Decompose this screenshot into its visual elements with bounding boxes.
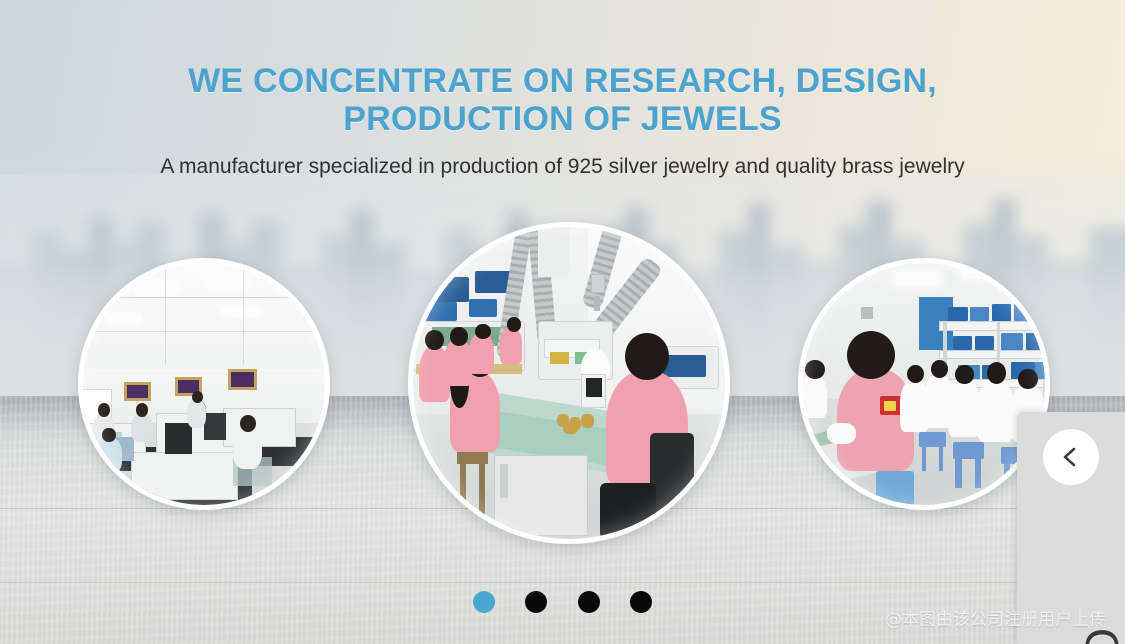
carousel-dot-4[interactable] [630,591,652,613]
photo-circle-office[interactable] [78,258,330,510]
ground-seam [0,582,1125,583]
carousel-dot-1[interactable] [473,591,495,613]
carousel-dot-2[interactable] [525,591,547,613]
chat-collapse-button[interactable] [1043,429,1099,485]
photo-circle-assembly[interactable] [798,258,1050,510]
headline-line-1: WE CONCENTRATE ON RESEARCH, DESIGN, [188,62,937,100]
carousel-dot-3[interactable] [578,591,600,613]
page-subtitle: A manufacturer specialized in production… [0,152,1125,182]
watermark-text: @本图由该公司注册用户上传 [885,605,1106,630]
hero-carousel-slide: WE CONCENTRATE ON RESEARCH, DESIGN, PROD… [0,0,1125,644]
headline-line-2: PRODUCTION OF JEWELS [0,100,1125,138]
chevron-left-icon [1058,444,1084,470]
page-title: WE CONCENTRATE ON RESEARCH, DESIGN, PROD… [0,62,1125,138]
photo-circle-workshop[interactable] [408,222,730,544]
